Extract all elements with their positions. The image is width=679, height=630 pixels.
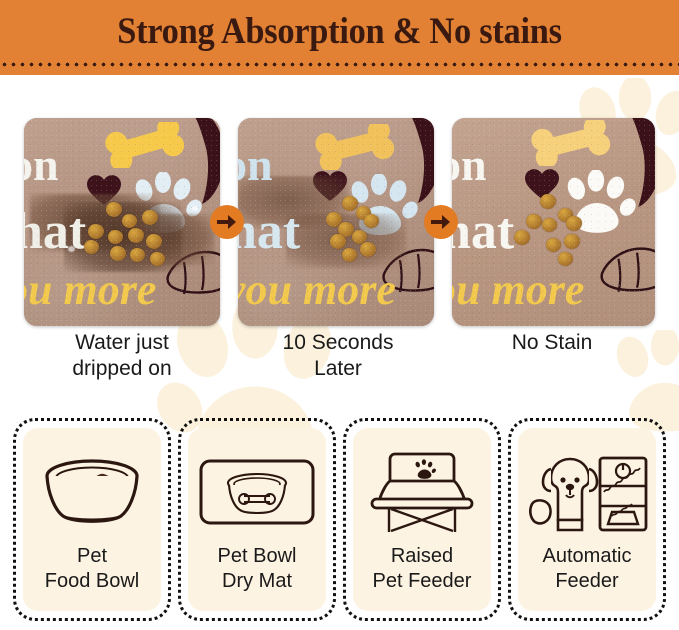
arrow-right-icon bbox=[210, 205, 244, 239]
mat-texture bbox=[452, 118, 655, 326]
automatic-feeder-icon bbox=[524, 442, 650, 542]
header-dotted-divider bbox=[0, 62, 679, 67]
absorption-demo-row: on hat ou more bbox=[0, 118, 679, 326]
usage-card-pet-food-bowl[interactable]: Pet Food Bowl bbox=[13, 418, 171, 621]
caption-water-dripped: Water justdripped on bbox=[22, 330, 222, 383]
card-label: Pet Bowl Dry Mat bbox=[218, 544, 297, 594]
arrow-right-icon bbox=[424, 205, 458, 239]
caption-10-seconds-later: 10 SecondsLater bbox=[238, 330, 438, 383]
card-inner: Raised Pet Feeder bbox=[353, 428, 491, 611]
card-inner: Pet Bowl Dry Mat bbox=[188, 428, 326, 611]
card-inner: Automatic Feeder bbox=[518, 428, 656, 611]
pet-mat-photo: on hat ou more bbox=[24, 118, 220, 326]
caption-no-stain: No Stain bbox=[452, 330, 652, 356]
demo-photo-water-dripped: on hat ou more bbox=[24, 118, 220, 326]
mat-texture bbox=[238, 118, 434, 326]
pet-mat-photo: on hat ou more bbox=[452, 118, 655, 326]
arrow-right-glyph bbox=[431, 213, 451, 231]
usage-card-automatic-feeder[interactable]: Automatic Feeder bbox=[508, 418, 666, 621]
pet-bowl-dry-mat-icon bbox=[198, 442, 316, 542]
arrow-right-glyph bbox=[217, 213, 237, 231]
usage-cards-row: Pet Food Bowl Pet Bowl Dry Mat bbox=[0, 418, 679, 623]
demo-captions: Water justdripped on 10 SecondsLater No … bbox=[0, 330, 679, 395]
mat-texture bbox=[24, 118, 220, 326]
pet-mat-photo: on hat you more bbox=[238, 118, 434, 326]
card-label: Pet Food Bowl bbox=[45, 544, 140, 594]
usage-card-raised-pet-feeder[interactable]: Raised Pet Feeder bbox=[343, 418, 501, 621]
demo-photo-10-seconds-later: on hat you more bbox=[238, 118, 434, 326]
card-label: Raised Pet Feeder bbox=[373, 544, 472, 594]
usage-card-pet-bowl-dry-mat[interactable]: Pet Bowl Dry Mat bbox=[178, 418, 336, 621]
demo-photo-no-stain: on hat ou more bbox=[452, 118, 655, 326]
page-title: Strong Absorption & No stains bbox=[24, 0, 655, 62]
header-banner: Strong Absorption & No stains bbox=[0, 0, 679, 75]
card-label: Automatic Feeder bbox=[543, 544, 632, 594]
pet-food-bowl-icon bbox=[36, 442, 148, 542]
card-inner: Pet Food Bowl bbox=[23, 428, 161, 611]
raised-pet-feeder-icon bbox=[367, 442, 477, 542]
